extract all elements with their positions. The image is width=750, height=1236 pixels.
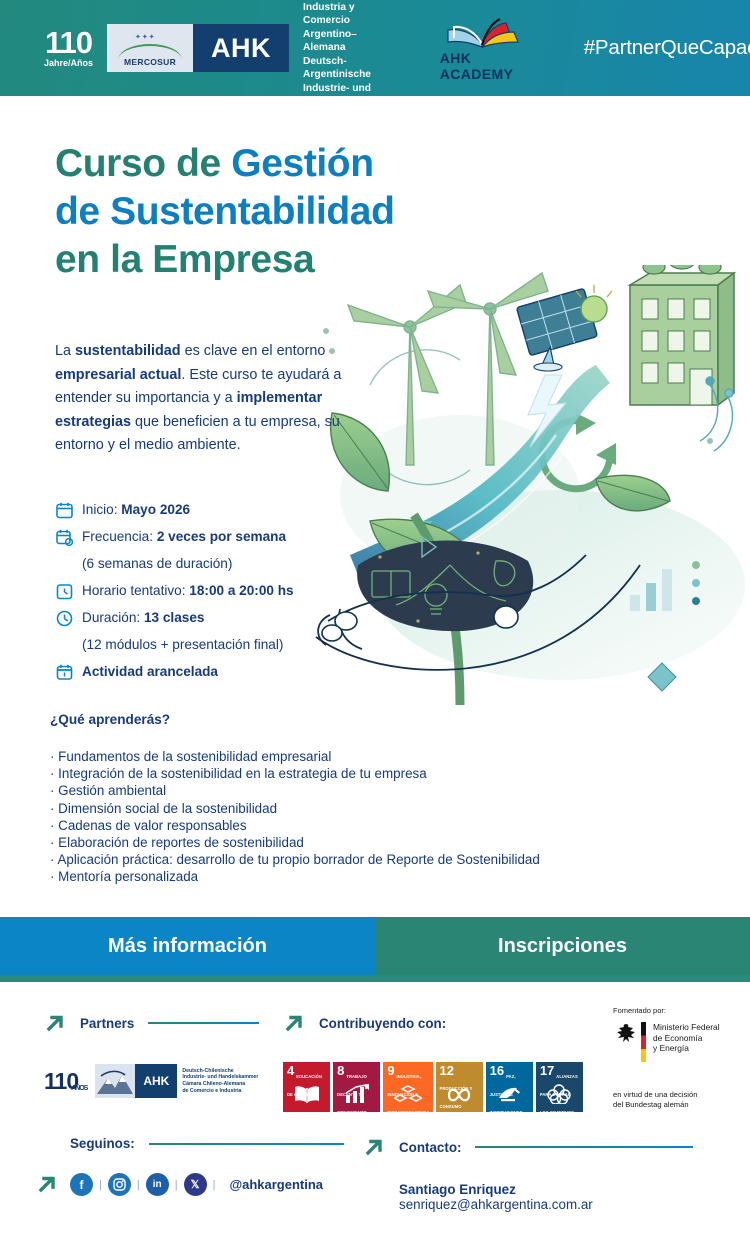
enroll-button[interactable]: Inscripciones xyxy=(375,917,750,975)
sdg-16-badge: 16 PAZ, JUSTICIA E INSTITUCIONES SÓLIDAS xyxy=(486,1062,533,1112)
detail-row-inicio: Inicio: Mayo 2026 xyxy=(56,500,396,527)
sdg-9-number: 9 xyxy=(387,1065,394,1077)
partners-heading: Partners xyxy=(80,1016,134,1031)
ahk-argentina-logo: ✦✦✦ MERCOSUR AHK xyxy=(107,24,289,72)
detail-text-inicio: Inicio: Mayo 2026 xyxy=(82,500,190,520)
separator: | xyxy=(137,1179,140,1191)
german-eagle-icon xyxy=(613,1022,639,1048)
separator: | xyxy=(175,1179,178,1191)
dove-gavel-icon xyxy=(486,1084,533,1109)
calendar-repeat-icon xyxy=(56,527,82,551)
anniversary-label: Jahre/Años xyxy=(44,58,93,69)
detail-value-frecuencia: 2 veces por semana xyxy=(157,529,286,544)
title-line2: de Sustentabilidad xyxy=(55,190,395,233)
list-item: · Integración de la sostenibilidad en la… xyxy=(50,765,650,782)
ahk-chile-logo: AHK Deutsch-Chilenische Industrie- und H… xyxy=(95,1064,258,1098)
detail-sub-frecuencia: (6 semanas de duración) xyxy=(82,554,232,574)
intro-text-2: es clave en el entorno xyxy=(181,343,326,359)
arrow-up-right-icon xyxy=(283,1012,305,1034)
clock-square-icon xyxy=(56,581,82,605)
detail-label-duracion: Duración: xyxy=(82,610,144,625)
partner-logos: 110AÑOS AHK Deutsch-Chilenische Industri… xyxy=(44,1064,259,1098)
clock-icon xyxy=(56,608,82,632)
open-book-icon xyxy=(440,14,526,48)
linkedin-icon[interactable]: in xyxy=(146,1173,169,1196)
growth-chart-icon xyxy=(333,1084,380,1109)
contact-heading: Contacto: xyxy=(399,1140,461,1155)
contact-person: Santiago Enriquez xyxy=(363,1182,693,1197)
contact-heading-row: Contacto: xyxy=(363,1136,693,1158)
separator: | xyxy=(213,1179,216,1191)
detail-row-frecuencia: Frecuencia: 2 veces por semana xyxy=(56,527,396,554)
instagram-icon[interactable] xyxy=(108,1173,131,1196)
intro-bold-1: sustentabilidad xyxy=(75,343,181,359)
ahk-mark: AHK xyxy=(193,24,289,72)
detail-label-inicio: Inicio: xyxy=(82,502,121,517)
partners-heading-row: Partners xyxy=(44,1012,259,1034)
chamber-name: Cámara de Industria y Comercio Argentino… xyxy=(303,0,382,108)
ministry-note: en virtud de una decisión del Bundestag … xyxy=(613,1090,743,1109)
detail-text-horario: Horario tentativo: 18:00 a 20:00 hs xyxy=(82,581,294,601)
title-line3: en la Empresa xyxy=(55,238,314,281)
german-flag-stripe-icon xyxy=(641,1022,646,1062)
ahk-academy-logo: AHK ACADEMY xyxy=(440,14,526,82)
detail-row-horario: Horario tentativo: 18:00 a 20:00 hs xyxy=(56,581,396,608)
funded-by-label: Fomentado por: xyxy=(613,1006,743,1015)
arrow-up-right-icon xyxy=(36,1173,58,1195)
sdg-8-badge: 8 TRABAJO DECENTE Y CRECIMIENTO ECONÓMIC… xyxy=(333,1062,380,1112)
detail-text-frecuencia: Frecuencia: 2 veces por semana xyxy=(82,527,286,547)
calendar-icon xyxy=(56,500,82,524)
calendar-fee-icon xyxy=(56,662,82,686)
list-item: · Fundamentos de la sostenibilidad empre… xyxy=(50,748,650,765)
sdg-4-number: 4 xyxy=(287,1065,294,1077)
campaign-hashtag: #PartnerQueCapacita xyxy=(584,36,750,60)
ministry-block: Fomentado por: Ministerio Federal de Eco… xyxy=(613,1006,743,1109)
contact-email[interactable]: senriquez@ahkargentina.com.ar xyxy=(363,1197,693,1212)
mercosur-stars-icon: ✦✦✦ xyxy=(135,33,156,41)
separator: | xyxy=(99,1179,102,1191)
list-item: · Aplicación práctica: desarrollo de tu … xyxy=(50,851,650,868)
list-item: · Gestión ambiental xyxy=(50,782,650,799)
facebook-icon[interactable]: f xyxy=(70,1173,93,1196)
sdg-12-badge: 12 PRODUCCIÓN Y CONSUMO RESPONSABLES xyxy=(436,1062,483,1112)
divider xyxy=(0,975,750,982)
sdg-17-number: 17 xyxy=(540,1065,554,1077)
follow-heading: Seguinos: xyxy=(70,1136,135,1151)
more-info-button[interactable]: Más información xyxy=(0,917,375,975)
contributing-heading-row: Contribuyendo con: xyxy=(283,1012,583,1034)
list-item: · Cadenas de valor responsables xyxy=(50,817,650,834)
infinity-icon xyxy=(436,1086,483,1109)
sdg-4-badge: 4 EDUCACIÓN DE CALIDAD xyxy=(283,1062,330,1112)
partner-anos: AÑOS xyxy=(71,1085,87,1092)
detail-value-arancel: Actividad arancelada xyxy=(82,664,218,679)
social-handle[interactable]: @ahkargentina xyxy=(229,1177,323,1192)
title-line1-part1: Curso de xyxy=(55,142,231,185)
mercosur-label: MERCOSUR xyxy=(107,57,193,67)
intro-bold-2: empresarial actual xyxy=(55,367,181,383)
detail-text-duracion: Duración: 13 clases xyxy=(82,608,204,628)
sdg-9-badge: 9 INDUSTRIA, INNOVACIÓN E INFRAESTRUCTUR… xyxy=(383,1062,432,1112)
sdg-17-badge: 17 ALIANZAS PARA LOGRAR LOS OBJETIVOS xyxy=(536,1062,583,1112)
detail-label-frecuencia: Frecuencia: xyxy=(82,529,157,544)
arrow-up-right-icon xyxy=(363,1136,385,1158)
intro-paragraph: La sustentabilidad es clave en el entorn… xyxy=(55,340,385,458)
mountain-icon xyxy=(95,1064,135,1098)
detail-sub-duracion: (12 módulos + presentación final) xyxy=(82,635,283,655)
arrow-up-right-icon xyxy=(44,1012,66,1034)
page-title: Curso de Gestión de Sustentabilidad en l… xyxy=(55,140,535,284)
detail-value-horario: 18:00 a 20:00 hs xyxy=(189,583,293,598)
anniversary-logo: 110 Jahre/Años xyxy=(44,28,93,69)
mercosur-icon: ✦✦✦ MERCOSUR xyxy=(107,24,193,72)
sdg-12-number: 12 xyxy=(440,1065,454,1077)
sdg-16-number: 16 xyxy=(490,1065,504,1077)
ahk-academy-label: AHK ACADEMY xyxy=(440,50,526,82)
partners-rule xyxy=(148,1022,259,1024)
anniversary-number: 110 xyxy=(45,28,92,58)
list-item: · Mentoría personalizada xyxy=(50,868,650,885)
detail-value-inicio: Mayo 2026 xyxy=(121,502,190,517)
cubes-icon xyxy=(383,1084,432,1109)
partners-section: Partners 110AÑOS AHK Deutsch-Chilenische… xyxy=(44,1012,259,1098)
intro-text-1: La xyxy=(55,343,75,359)
contact-rule xyxy=(475,1146,693,1148)
book-icon xyxy=(283,1084,330,1109)
partner-anniversary-logo: 110AÑOS xyxy=(44,1068,87,1095)
learn-list: · Fundamentos de la sostenibilidad empre… xyxy=(50,748,650,886)
ministry-logo-row: Ministerio Federal de Economía y Energía xyxy=(613,1022,743,1062)
rings-icon xyxy=(536,1084,583,1109)
detail-text-arancel: Actividad arancelada xyxy=(82,662,218,682)
x-twitter-icon[interactable]: 𝕏 xyxy=(184,1173,207,1196)
detail-row-duracion: Duración: 13 clases xyxy=(56,608,396,635)
page-header: 110 Jahre/Años ✦✦✦ MERCOSUR AHK Cámara d… xyxy=(0,0,750,96)
ministry-name: Ministerio Federal de Economía y Energía xyxy=(653,1022,720,1054)
social-icon-row: f | | in | 𝕏 | @ahkargentina xyxy=(44,1173,344,1196)
list-item: · Dimensión social de la sostenibilidad xyxy=(50,800,650,817)
detail-row-arancel: Actividad arancelada xyxy=(56,662,396,689)
learn-heading: ¿Qué aprenderás? xyxy=(50,712,170,727)
detail-value-duracion: 13 clases xyxy=(144,610,204,625)
follow-rule xyxy=(149,1143,344,1145)
ahk-chile-mark: AHK xyxy=(135,1064,177,1098)
contributing-section: Contribuyendo con: 4 EDUCACIÓN DE CALIDA… xyxy=(283,1012,583,1112)
detail-label-horario: Horario tentativo: xyxy=(82,583,189,598)
sdg-icon-row: 4 EDUCACIÓN DE CALIDAD 8 TRABAJO DECENTE… xyxy=(283,1062,583,1112)
contributing-heading: Contribuyendo con: xyxy=(319,1016,446,1031)
follow-heading-row: Seguinos: xyxy=(44,1136,344,1151)
sdg-8-number: 8 xyxy=(337,1065,344,1077)
follow-section: Seguinos: f | | in | 𝕏 | @ahkargentina xyxy=(44,1136,344,1196)
detail-row-duracion-sub: (12 módulos + presentación final) xyxy=(56,635,396,662)
cta-band: Más información Inscripciones xyxy=(0,917,750,975)
ahk-chile-desc: Deutsch-Chilenische Industrie- und Hande… xyxy=(182,1068,258,1094)
detail-row-frecuencia-sub: (6 semanas de duración) xyxy=(56,554,396,581)
title-line1-part2: Gestión xyxy=(231,142,373,185)
list-item: · Elaboración de reportes de sostenibili… xyxy=(50,834,650,851)
course-details-list: Inicio: Mayo 2026 Frecuencia: 2 veces po… xyxy=(56,500,396,689)
contact-section: Contacto: Santiago Enriquez senriquez@ah… xyxy=(363,1136,693,1212)
